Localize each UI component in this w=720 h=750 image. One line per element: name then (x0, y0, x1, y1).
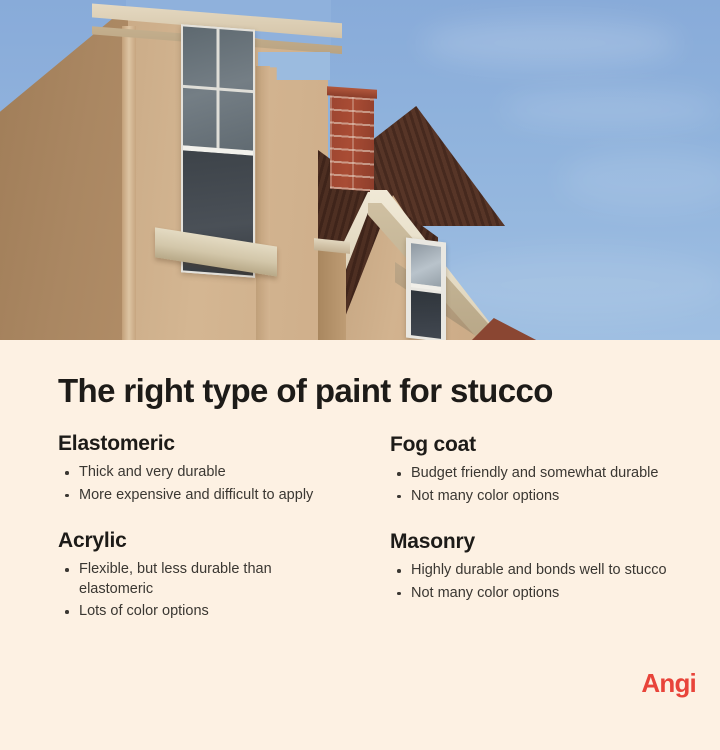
right-column: Fog coat Budget friendly and somewhat du… (390, 432, 678, 625)
list-item: Lots of color options (58, 602, 346, 622)
bullet-list-acrylic: Flexible, but less durable than elastome… (58, 560, 346, 622)
wall-step-jog-shadow (256, 66, 270, 340)
left-column: Elastomeric Thick and very durable More … (58, 432, 346, 625)
list-item: Not many color options (390, 487, 678, 507)
list-item: Thick and very durable (58, 463, 346, 483)
gable-window-lower-sash (411, 290, 441, 339)
cloud-wisp (560, 150, 720, 210)
list-item: Flexible, but less durable than elastome… (58, 560, 346, 599)
bullet-list-masonry: Highly durable and bonds well to stucco … (390, 561, 678, 603)
list-item: Budget friendly and somewhat durable (390, 464, 678, 484)
cloud-wisp (420, 20, 680, 66)
group-heading-acrylic: Acrylic (58, 529, 346, 553)
bullet-list-elastomeric: Thick and very durable More expensive an… (58, 463, 346, 505)
group-heading-fog-coat: Fog coat (390, 433, 678, 457)
stucco-corner-band (122, 26, 136, 340)
list-item: More expensive and difficult to apply (58, 486, 346, 506)
group-heading-masonry: Masonry (390, 530, 678, 554)
return-wall (318, 248, 346, 340)
paint-type-group-masonry: Masonry Highly durable and bonds well to… (390, 530, 678, 603)
gable-window-upper-sash (411, 243, 441, 291)
hero-photo-stucco-house (0, 0, 720, 340)
list-item: Not many color options (390, 584, 678, 604)
cloud-wisp (500, 90, 720, 128)
brick-chimney (330, 90, 374, 191)
paint-type-group-elastomeric: Elastomeric Thick and very durable More … (58, 432, 346, 505)
window-upper-sash (183, 26, 253, 156)
group-heading-elastomeric: Elastomeric (58, 432, 346, 456)
list-item: Highly durable and bonds well to stucco (390, 561, 678, 581)
gable-window (406, 238, 446, 340)
paint-type-group-fog-coat: Fog coat Budget friendly and somewhat du… (390, 432, 678, 506)
angi-logo: Angi (641, 670, 696, 696)
infographic-root: The right type of paint for stucco Elast… (0, 0, 720, 750)
page-title: The right type of paint for stucco (58, 372, 553, 410)
paint-type-group-acrylic: Acrylic Flexible, but less durable than … (58, 529, 346, 622)
paint-type-columns: Elastomeric Thick and very durable More … (58, 432, 678, 625)
bullet-list-fog-coat: Budget friendly and somewhat durable Not… (390, 464, 678, 506)
info-panel: The right type of paint for stucco Elast… (0, 340, 720, 750)
